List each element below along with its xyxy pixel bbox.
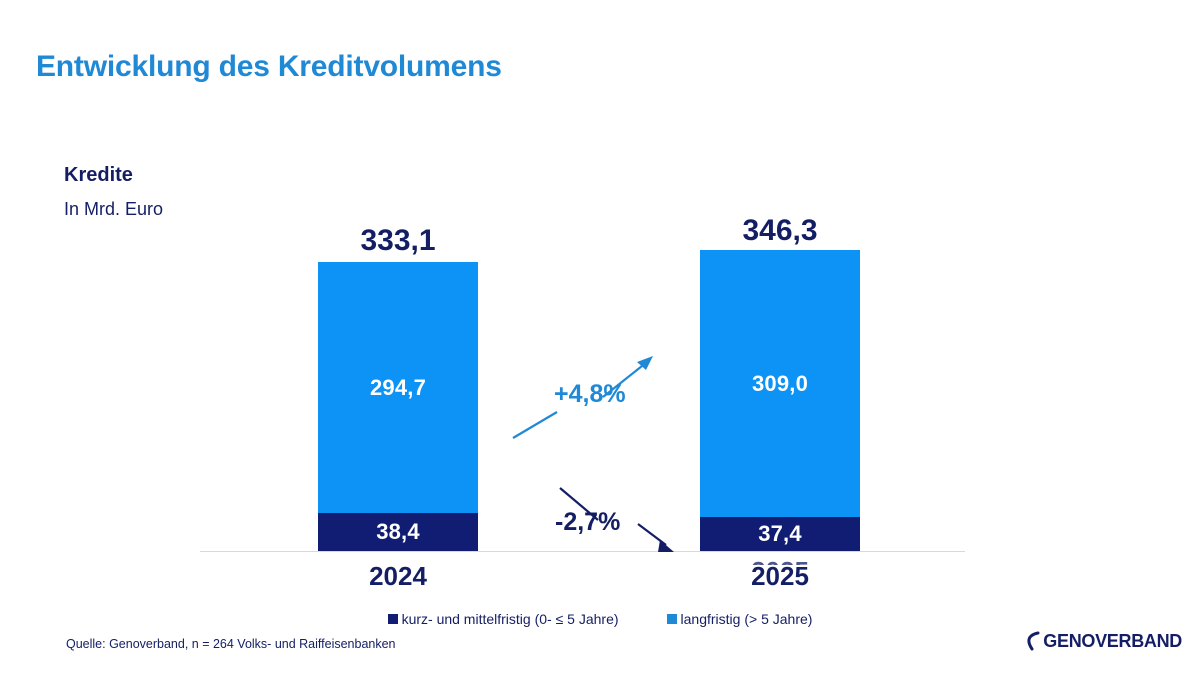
growth-label-langfristig: +4,8% bbox=[554, 380, 626, 409]
bar-segment-langfristig[interactable]: 309,0 bbox=[700, 250, 860, 517]
bar-segment-langfristig[interactable]: 294,7 bbox=[318, 262, 478, 513]
square-icon bbox=[667, 614, 677, 624]
chart-legend: kurz- und mittelfristig (0- ≤ 5 Jahre) l… bbox=[0, 611, 1200, 627]
square-icon bbox=[388, 614, 398, 624]
bar-total-label: 346,3 bbox=[665, 214, 895, 248]
bar-total-label: 333,1 bbox=[283, 224, 513, 258]
x-axis-category-label: 2025 bbox=[665, 561, 895, 592]
bar-segment-value: 38,4 bbox=[376, 519, 420, 545]
source-note: Quelle: Genoverband, n = 264 Volks- und … bbox=[66, 637, 396, 651]
legend-item-label: langfristig (> 5 Jahre) bbox=[681, 611, 813, 627]
growth-label-kurzfristig: -2,7% bbox=[555, 508, 620, 537]
x-axis-category-label: 2024 bbox=[283, 561, 513, 592]
stacked-bar-2025[interactable]: 309,0 37,4 bbox=[700, 250, 860, 551]
genoverband-logo: GENOVERBAND bbox=[1025, 629, 1182, 653]
bar-segment-kurzfristig[interactable]: 37,4 bbox=[700, 517, 860, 551]
bar-segment-value: 37,4 bbox=[758, 521, 802, 547]
logo-wordmark: GENOVERBAND bbox=[1043, 631, 1182, 652]
legend-item-kurzfristig[interactable]: kurz- und mittelfristig (0- ≤ 5 Jahre) bbox=[388, 611, 619, 627]
stacked-bar-2024[interactable]: 294,7 38,4 bbox=[318, 262, 478, 551]
slide: Entwicklung des Kreditvolumens Kredite I… bbox=[0, 0, 1200, 675]
bar-segment-value: 309,0 bbox=[752, 371, 808, 397]
swoosh-icon bbox=[1025, 629, 1041, 653]
legend-item-langfristig[interactable]: langfristig (> 5 Jahre) bbox=[667, 611, 813, 627]
legend-item-label: kurz- und mittelfristig (0- ≤ 5 Jahre) bbox=[402, 611, 619, 627]
bar-segment-kurzfristig[interactable]: 38,4 bbox=[318, 513, 478, 551]
x-axis-line bbox=[200, 551, 965, 552]
chart-plot-area: 333,1 294,7 38,4 2024 346,3 309,0 37,4 2… bbox=[0, 0, 1200, 675]
bar-segment-value: 294,7 bbox=[370, 375, 426, 401]
